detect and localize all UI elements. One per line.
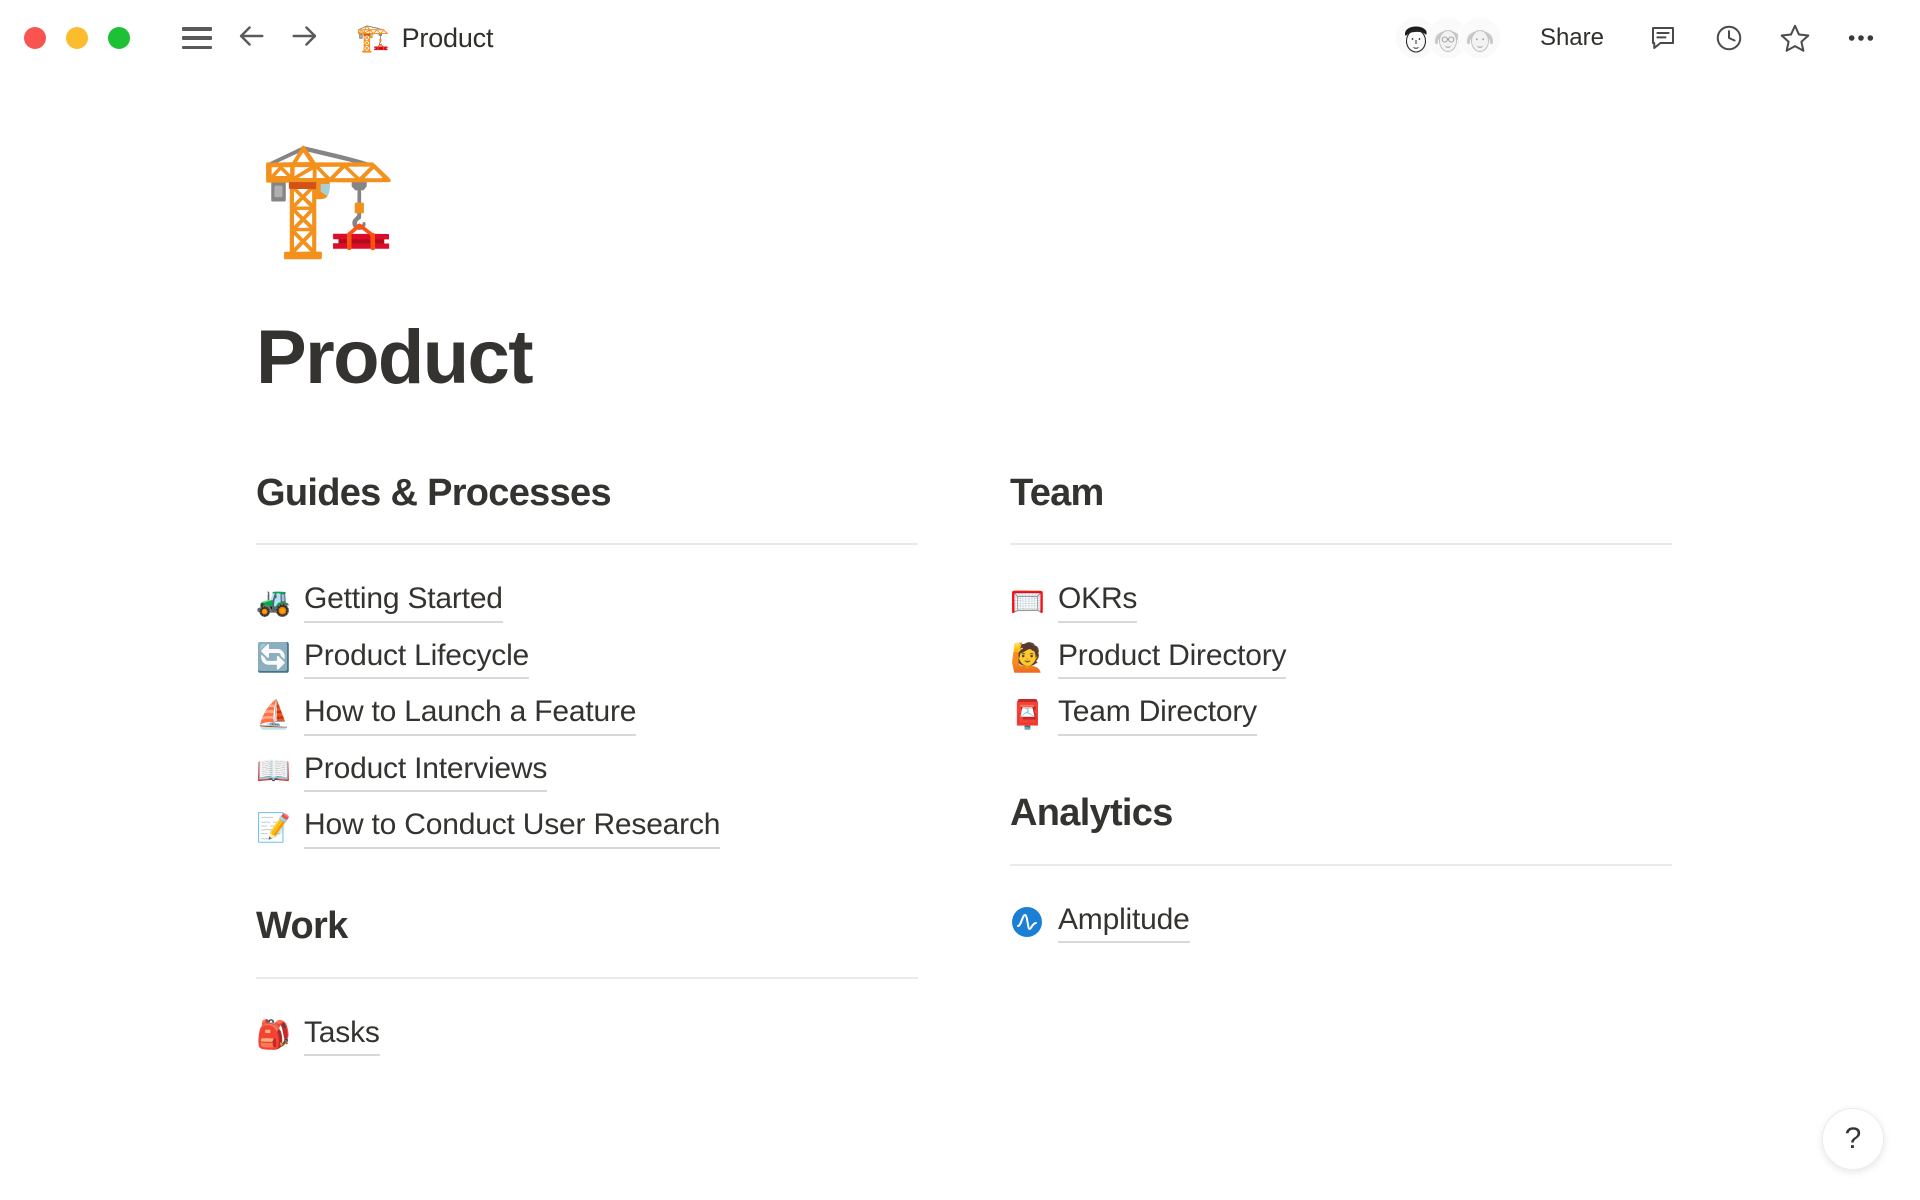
list-item[interactable]: 🥅 OKRs [1010, 573, 1672, 630]
collaborator-avatars[interactable] [1394, 16, 1502, 60]
clock-history-icon [1714, 23, 1744, 53]
page-link-label[interactable]: How to Launch a Feature [304, 693, 636, 736]
page-link-label[interactable]: Product Interviews [304, 750, 547, 793]
page-link-label[interactable]: OKRs [1058, 580, 1137, 623]
section-heading[interactable]: Work [256, 906, 918, 948]
tractor-icon: 🚜 [256, 588, 290, 616]
list-item[interactable]: 🚜 Getting Started [256, 573, 918, 630]
right-column: Team 🥅 OKRs 🙋 Product Directory 📮 Team D… [1010, 473, 1672, 1064]
person-raising-hand-icon: 🙋 [1010, 644, 1044, 672]
minimize-window-button[interactable] [66, 27, 88, 49]
page-icon-crane-icon[interactable]: 🏗️ [258, 142, 1920, 272]
section-divider [256, 977, 918, 979]
more-options-button[interactable] [1835, 12, 1887, 64]
back-button[interactable] [224, 11, 278, 65]
comments-button[interactable] [1637, 12, 1689, 64]
window-titlebar: 🏗️ Product [0, 0, 1920, 76]
avatar-face-3 [1460, 18, 1500, 58]
favorite-button[interactable] [1769, 12, 1821, 64]
navigation-controls [170, 11, 332, 65]
maximize-window-button[interactable] [108, 27, 130, 49]
page-link-label[interactable]: Product Lifecycle [304, 637, 529, 680]
section-links: 🎒 Tasks [256, 1007, 918, 1064]
page-link-label[interactable]: Tasks [304, 1014, 380, 1057]
section-links: Amplitude [1010, 894, 1672, 951]
help-button[interactable]: ? [1822, 1108, 1884, 1170]
hamburger-menu-icon [182, 27, 212, 49]
arrow-right-icon [288, 19, 322, 58]
page-link-label[interactable]: Amplitude [1058, 901, 1190, 944]
breadcrumb[interactable]: 🏗️ Product [356, 23, 493, 54]
section-guides: Guides & Processes 🚜 Getting Started 🔄 P… [256, 473, 918, 856]
list-item[interactable]: 🎒 Tasks [256, 1007, 918, 1064]
section-divider [1010, 864, 1672, 866]
postbox-icon: 📮 [1010, 701, 1044, 729]
question-mark-icon: ? [1845, 1122, 1862, 1156]
section-heading[interactable]: Guides & Processes [256, 473, 918, 515]
content-columns: Guides & Processes 🚜 Getting Started 🔄 P… [256, 473, 1920, 1064]
more-options-icon [1845, 22, 1877, 54]
comment-icon [1648, 23, 1678, 53]
section-links: 🥅 OKRs 🙋 Product Directory 📮 Team Direct… [1010, 573, 1672, 743]
section-divider [1010, 543, 1672, 545]
amplitude-logo-icon [1010, 905, 1044, 939]
sailboat-icon: ⛵ [256, 701, 290, 729]
crane-icon: 🏗️ [356, 25, 390, 52]
memo-icon: 📝 [256, 814, 290, 842]
page-content: 🏗️ Product Guides & Processes 🚜 Getting … [0, 142, 1920, 1063]
section-links: 🚜 Getting Started 🔄 Product Lifecycle ⛵ … [256, 573, 918, 856]
page-link-label[interactable]: Product Directory [1058, 637, 1286, 680]
left-column: Guides & Processes 🚜 Getting Started 🔄 P… [256, 473, 918, 1064]
page-link-label[interactable]: Team Directory [1058, 693, 1257, 736]
refresh-icon: 🔄 [256, 644, 290, 672]
avatar[interactable] [1458, 16, 1502, 60]
list-item[interactable]: 🙋 Product Directory [1010, 630, 1672, 687]
section-heading[interactable]: Team [1010, 473, 1672, 515]
list-item[interactable]: 📮 Team Directory [1010, 686, 1672, 743]
goal-net-icon: 🥅 [1010, 588, 1044, 616]
section-work: Work 🎒 Tasks [256, 906, 918, 1063]
list-item[interactable]: Amplitude [1010, 894, 1672, 951]
section-team: Team 🥅 OKRs 🙋 Product Directory 📮 Team D… [1010, 473, 1672, 743]
titlebar-actions: Share [1394, 12, 1920, 64]
backpack-icon: 🎒 [256, 1021, 290, 1049]
section-heading[interactable]: Analytics [1010, 793, 1672, 835]
open-book-icon: 📖 [256, 757, 290, 785]
close-window-button[interactable] [24, 27, 46, 49]
share-button[interactable]: Share [1526, 16, 1618, 60]
page-history-button[interactable] [1703, 12, 1755, 64]
window-controls [24, 27, 130, 49]
star-icon [1779, 22, 1811, 54]
page-link-label[interactable]: How to Conduct User Research [304, 806, 720, 849]
section-divider [256, 543, 918, 545]
page-title[interactable]: Product [256, 318, 1920, 399]
page-link-label[interactable]: Getting Started [304, 580, 503, 623]
list-item[interactable]: 🔄 Product Lifecycle [256, 630, 918, 687]
sidebar-toggle-button[interactable] [170, 11, 224, 65]
arrow-left-icon [234, 19, 268, 58]
list-item[interactable]: ⛵ How to Launch a Feature [256, 686, 918, 743]
list-item[interactable]: 📖 Product Interviews [256, 743, 918, 800]
section-analytics: Analytics Amplitude [1010, 793, 1672, 950]
list-item[interactable]: 📝 How to Conduct User Research [256, 799, 918, 856]
forward-button[interactable] [278, 11, 332, 65]
breadcrumb-label: Product [402, 23, 494, 54]
